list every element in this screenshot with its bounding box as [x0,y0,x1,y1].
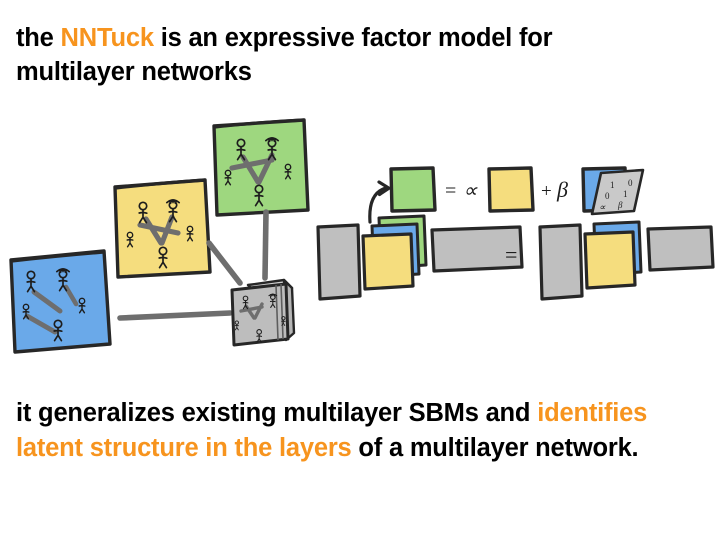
connector-green-to-stack [265,212,266,278]
core-cell: 0 [628,178,633,188]
core-cell: β [617,200,623,210]
expansion-arrow [370,182,389,222]
core-cell: 0 [605,191,610,201]
slide-canvas: the NNTuck is an expressive factor model… [0,0,720,540]
headline-accent-nntuck: NNTuck [61,24,154,52]
core-cell: ∝ [599,202,606,212]
equation-term-yellow [489,168,533,211]
network-layer-yellow [115,180,210,277]
equation-term-green [391,168,435,211]
equation-equals-2: = [505,242,517,267]
factor-block-right-gray [540,225,582,299]
equation-equals-1: = [445,180,456,202]
footline-part-1: it generalizes existing multilayer SBMs … [16,399,537,427]
connector-yellow-to-stack [209,243,240,283]
network-layer-green [214,120,308,215]
factor-block-wide-gray-right [648,227,713,270]
core-cell: 1 [623,189,628,199]
core-tensor-matrix: 1 0 0 1 ∝ β [592,170,643,214]
factor-block-layer-stack-left [363,216,426,289]
multilayer-adjacency-stack [232,280,294,345]
diagram-svg: = ∝ + β [0,100,720,380]
footline-part-2: of a multilayer network. [352,434,639,462]
headline-part-1: the [16,24,61,52]
nntuck-diagram: = ∝ + β [0,100,720,380]
equation-plus-symbol: + [541,181,552,202]
network-layer-blue [11,251,110,352]
factor-block-left-gray [318,225,360,299]
slide-headline: the NNTuck is an expressive factor model… [16,22,676,90]
connector-blue-to-stack [120,313,230,318]
slide-footline: it generalizes existing multilayer SBMs … [16,396,676,465]
core-cell: 1 [610,180,615,190]
factor-block-layer-stack-right [585,222,641,288]
equation-alpha-symbol: ∝ [463,180,478,202]
equation-beta-symbol: β [556,177,568,202]
